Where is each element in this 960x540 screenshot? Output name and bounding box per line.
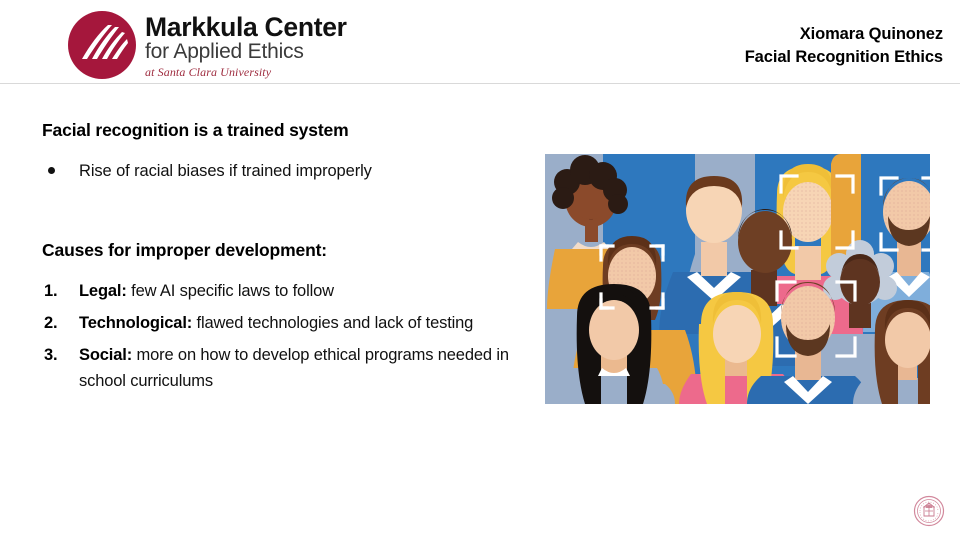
numbered-list: 1. Legal: few AI specific laws to follow… — [42, 278, 522, 395]
slide-header: Markkula Center for Applied Ethics at Sa… — [0, 0, 960, 84]
logo-line-3: at Santa Clara University — [145, 65, 347, 80]
slide: Markkula Center for Applied Ethics at Sa… — [0, 0, 960, 540]
santa-clara-university-seal-icon — [913, 495, 945, 527]
bullet-list: Rise of racial biases if trained imprope… — [42, 161, 522, 182]
markkula-center-logo: Markkula Center for Applied Ethics at Sa… — [68, 11, 347, 80]
section-heading-2: Causes for improper development: — [42, 240, 522, 262]
list-item-text: more on how to develop ethical programs … — [79, 346, 509, 391]
crowd-facial-recognition-illustration — [545, 154, 930, 404]
bullet-dot-icon — [48, 167, 55, 174]
markkula-m-logo-icon — [68, 11, 136, 79]
list-item: 2. Technological: flawed technologies an… — [42, 310, 522, 337]
list-item-text: flawed technologies and lack of testing — [192, 314, 473, 332]
logo-line-2: for Applied Ethics — [145, 41, 347, 64]
list-item-number: 1. — [44, 278, 57, 305]
list-item: Rise of racial biases if trained imprope… — [42, 161, 522, 182]
list-item-number: 2. — [44, 310, 57, 337]
list-item-number: 3. — [44, 342, 57, 369]
logo-wordmark: Markkula Center for Applied Ethics at Sa… — [145, 11, 347, 80]
presenter-name: Xiomara Quinonez — [745, 23, 943, 46]
list-item: 1. Legal: few AI specific laws to follow — [42, 278, 522, 305]
header-divider — [0, 83, 960, 84]
list-item: 3. Social: more on how to develop ethica… — [42, 342, 522, 395]
logo-line-1: Markkula Center — [145, 14, 347, 41]
list-item-text: few AI specific laws to follow — [127, 282, 334, 300]
list-item-lead: Social: — [79, 346, 132, 364]
bullet-text: Rise of racial biases if trained imprope… — [79, 162, 372, 180]
list-item-lead: Technological: — [79, 314, 192, 332]
slide-content: Facial recognition is a trained system R… — [42, 120, 522, 400]
section-heading-1: Facial recognition is a trained system — [42, 120, 522, 142]
presentation-topic: Facial Recognition Ethics — [745, 46, 943, 69]
header-title-block: Xiomara Quinonez Facial Recognition Ethi… — [745, 23, 943, 70]
list-item-lead: Legal: — [79, 282, 127, 300]
